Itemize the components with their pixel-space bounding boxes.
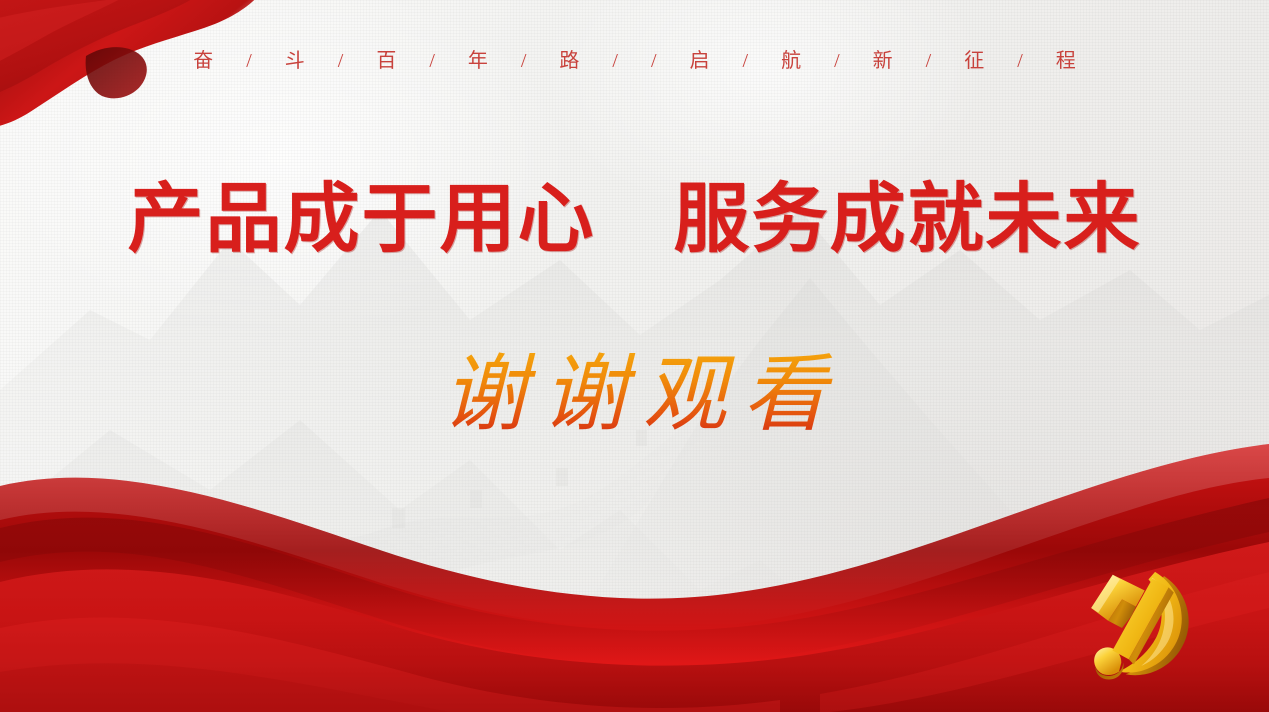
header-slogan: 奋 / 斗 / 百 / 年 / 路 / / 启 / 航 / 新 / 征 / 程 <box>0 44 1269 73</box>
hammer-sickle-icon <box>1066 548 1216 698</box>
page-title: 产品成于用心 服务成就未来 <box>0 178 1269 262</box>
thanks-text: 谢谢观看 <box>0 346 1269 446</box>
slide-canvas: 奋 / 斗 / 百 / 年 / 路 / / 启 / 航 / 新 / 征 / 程 … <box>0 0 1269 712</box>
